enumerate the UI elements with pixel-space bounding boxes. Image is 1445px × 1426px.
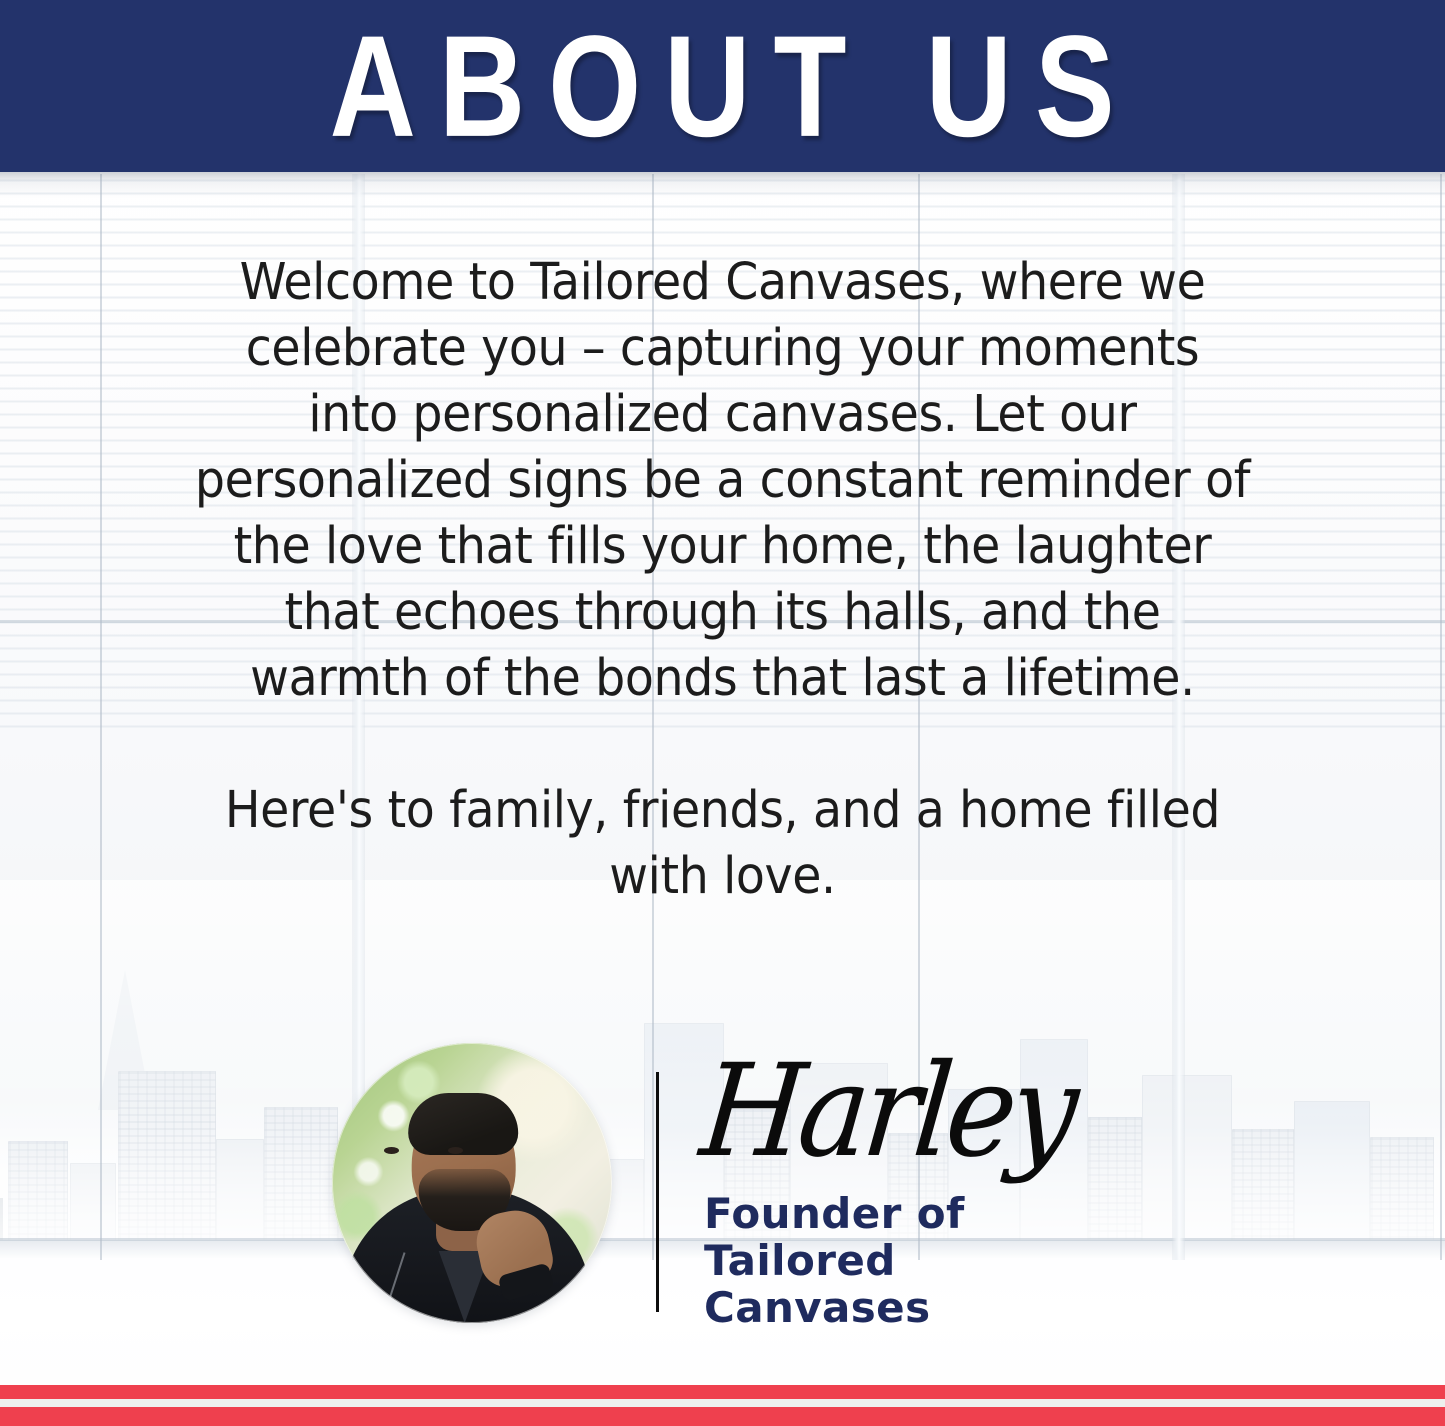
avatar [332,1043,612,1323]
about-us-page: ABOUT US Welcome to Tailored Canvases, w… [0,0,1445,1426]
about-paragraph-1: Welcome to Tailored Canvases, where we c… [195,250,1251,712]
paragraph-spacer [195,712,1251,778]
about-copy: Welcome to Tailored Canvases, where we c… [195,250,1251,910]
founder-signature: Harley [696,1048,1181,1176]
page-header-banner: ABOUT US [0,0,1445,172]
signature-block: Harley Founder of Tailored Canvases [690,1048,1210,1331]
signature-divider [656,1072,659,1312]
footer-stripe-bottom [0,1407,1445,1426]
footer-stripe-gap [0,1399,1445,1407]
avatar-ring [332,1043,612,1323]
footer-stripe-top [0,1385,1445,1399]
page-title: ABOUT US [307,14,1138,158]
header-drop-shadow [0,172,1445,198]
founder-role: Founder of Tailored Canvases [704,1190,1134,1331]
about-paragraph-2: Here's to family, friends, and a home fi… [195,778,1251,910]
